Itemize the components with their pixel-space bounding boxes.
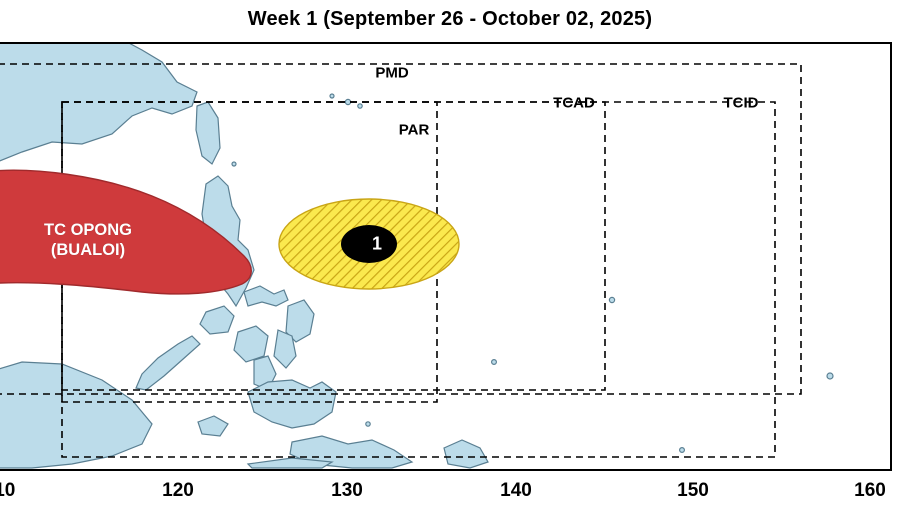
longitude-axis: 110 120 130 140 150 160: [0, 470, 890, 515]
land-sulu: [198, 416, 228, 436]
page-title: Week 1 (September 26 - October 02, 2025): [0, 8, 900, 31]
land-speck-7: [330, 94, 334, 98]
axis-tick: 150: [677, 480, 709, 502]
land-panay: [234, 326, 268, 362]
tc-opong-name: TC OPONG: [44, 220, 132, 240]
land-speck-4: [827, 373, 833, 379]
land-speck-9: [232, 162, 236, 166]
land-speck-8: [680, 448, 685, 453]
land-bicol: [244, 286, 288, 306]
development-area-number: 1: [372, 234, 382, 255]
region-label-par: PAR: [399, 122, 430, 139]
land-speck-5: [345, 99, 350, 104]
land-speck-3: [609, 297, 614, 302]
land-mindanao: [248, 380, 336, 428]
axis-tick: 110: [0, 480, 15, 502]
region-label-pmd: PMD: [375, 65, 408, 82]
axis-tick: 140: [500, 480, 532, 502]
tc-opong-intl-name: (BUALOI): [44, 240, 132, 260]
land-speck-6: [358, 104, 362, 108]
region-label-tcad: TCAD: [553, 95, 595, 112]
tc-opong-label: TC OPONG (BUALOI): [44, 220, 132, 260]
land-mindoro: [200, 306, 234, 334]
map-panel: PMD PAR TCAD TCID TC OPONG (BUALOI) 1: [0, 42, 892, 471]
region-label-tcid: TCID: [724, 95, 759, 112]
land-taiwan: [196, 102, 220, 164]
land-borneo: [0, 362, 152, 468]
axis-tick: 130: [331, 480, 363, 502]
axis-tick: 120: [162, 480, 194, 502]
land-halmahera: [444, 440, 488, 468]
land-palawan: [136, 336, 200, 390]
screenshot-root: Week 1 (September 26 - October 02, 2025): [0, 0, 900, 527]
land-speck-2: [492, 360, 497, 365]
land-speck-1: [366, 422, 370, 426]
development-area-marker: [341, 225, 397, 263]
axis-tick: 160: [854, 480, 886, 502]
